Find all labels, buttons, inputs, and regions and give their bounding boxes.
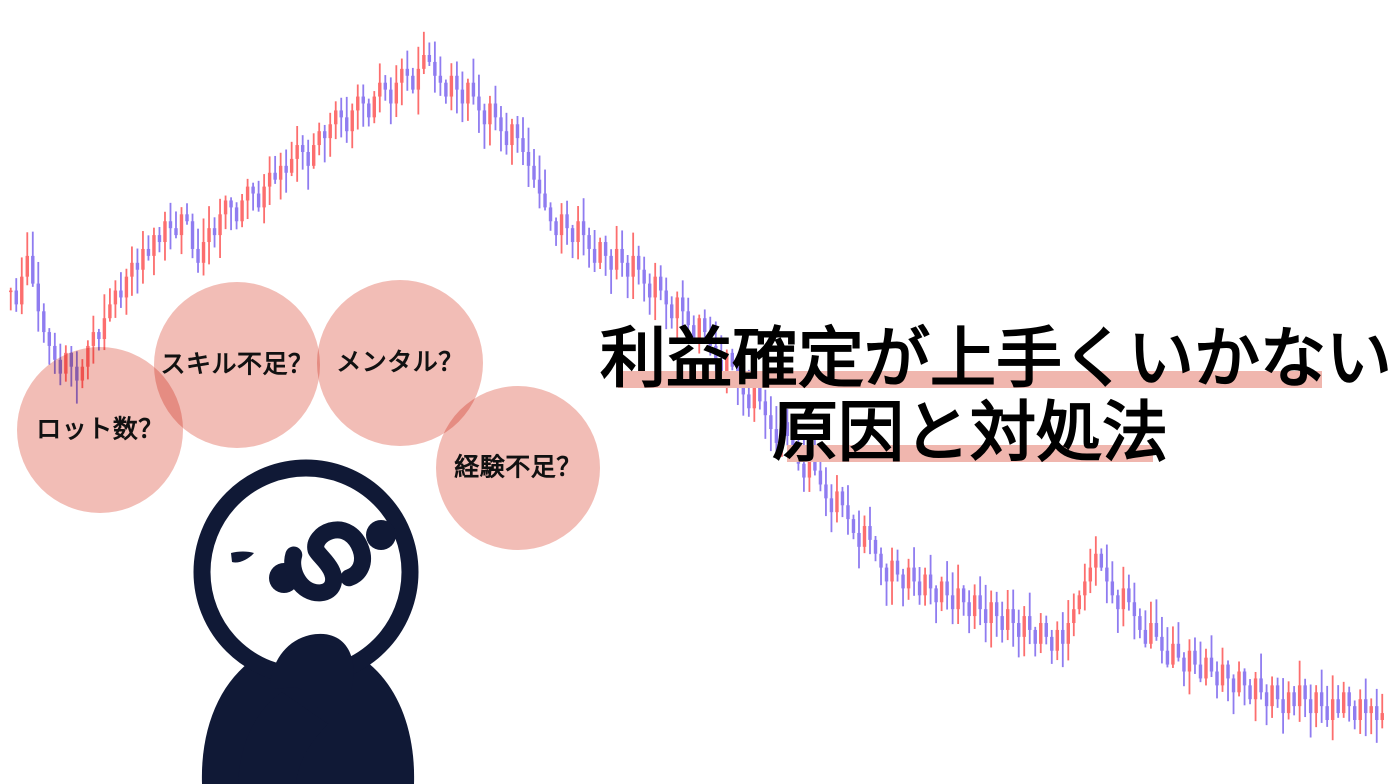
thought-bubble-label-lot-size: ロット数？ (36, 418, 164, 443)
thinking-person-figure (178, 452, 434, 784)
thought-bubble-label-skill: スキル不足？ (160, 353, 313, 378)
thought-bubble-label-experience: 経験不足？ (454, 456, 582, 481)
title-line-2-text: 原因と対処法 (772, 395, 1168, 469)
page-title: 利益確定が上手くいかない 原因と対処法 (600, 322, 1340, 470)
title-line-1: 利益確定が上手くいかない (600, 322, 1340, 396)
title-line-2: 原因と対処法 (600, 396, 1340, 470)
face-right-eye (366, 520, 396, 550)
thought-bubble-label-mental: メンタル？ (336, 351, 464, 376)
poster-canvas: ロット数？スキル不足？メンタル？経験不足？ 利益確定が上手くいかない 原因と対処… (0, 0, 1393, 784)
title-line-1-text: 利益確定が上手くいかない (600, 321, 1392, 395)
